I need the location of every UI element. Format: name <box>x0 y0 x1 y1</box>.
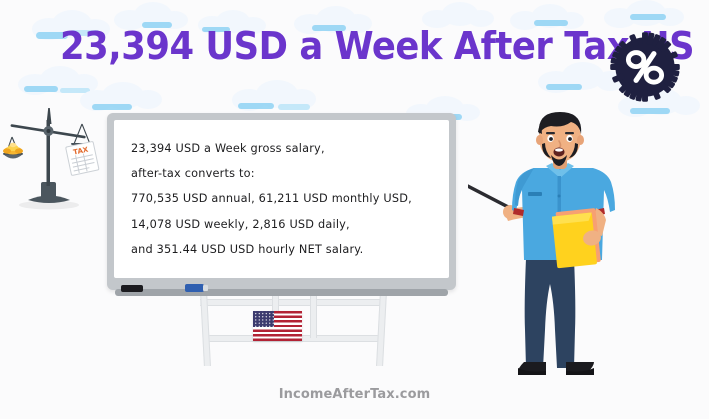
whiteboard-line: 14,078 USD weekly, 2,816 USD daily, <box>131 212 437 237</box>
whiteboard-line: and 351.44 USD USD hourly NET salary. <box>131 237 437 262</box>
whiteboard-text: 23,394 USD a Week gross salary, after-ta… <box>131 136 437 262</box>
easel-leg-inner-right <box>310 292 317 338</box>
pointer-stick <box>468 180 514 210</box>
cloud-icon <box>228 78 320 112</box>
percent-badge <box>608 30 682 104</box>
whiteboard-line: 23,394 USD a Week gross salary, <box>131 136 437 161</box>
whiteboard-line: after-tax converts to: <box>131 161 437 186</box>
infographic-canvas: 23,394 USD a Week After Tax US <box>0 0 709 419</box>
eraser-icon <box>121 285 143 292</box>
whiteboard-line: 770,535 USD annual, 61,211 USD monthly U… <box>131 186 437 211</box>
marker-icon <box>185 284 204 292</box>
easel-rail-top <box>200 299 386 306</box>
site-footer: IncomeAfterTax.com <box>0 387 709 402</box>
whiteboard-tray <box>115 289 448 296</box>
us-flag-icon <box>253 311 302 341</box>
whiteboard: 23,394 USD a Week gross salary, after-ta… <box>107 113 456 290</box>
flag-stars <box>253 311 274 327</box>
whiteboard-surface: 23,394 USD a Week gross salary, after-ta… <box>114 120 449 278</box>
page-title: 23,394 USD a Week After Tax US <box>60 24 694 68</box>
teacher-character <box>468 110 658 375</box>
balance-scale-icon: TAX <box>2 104 110 214</box>
